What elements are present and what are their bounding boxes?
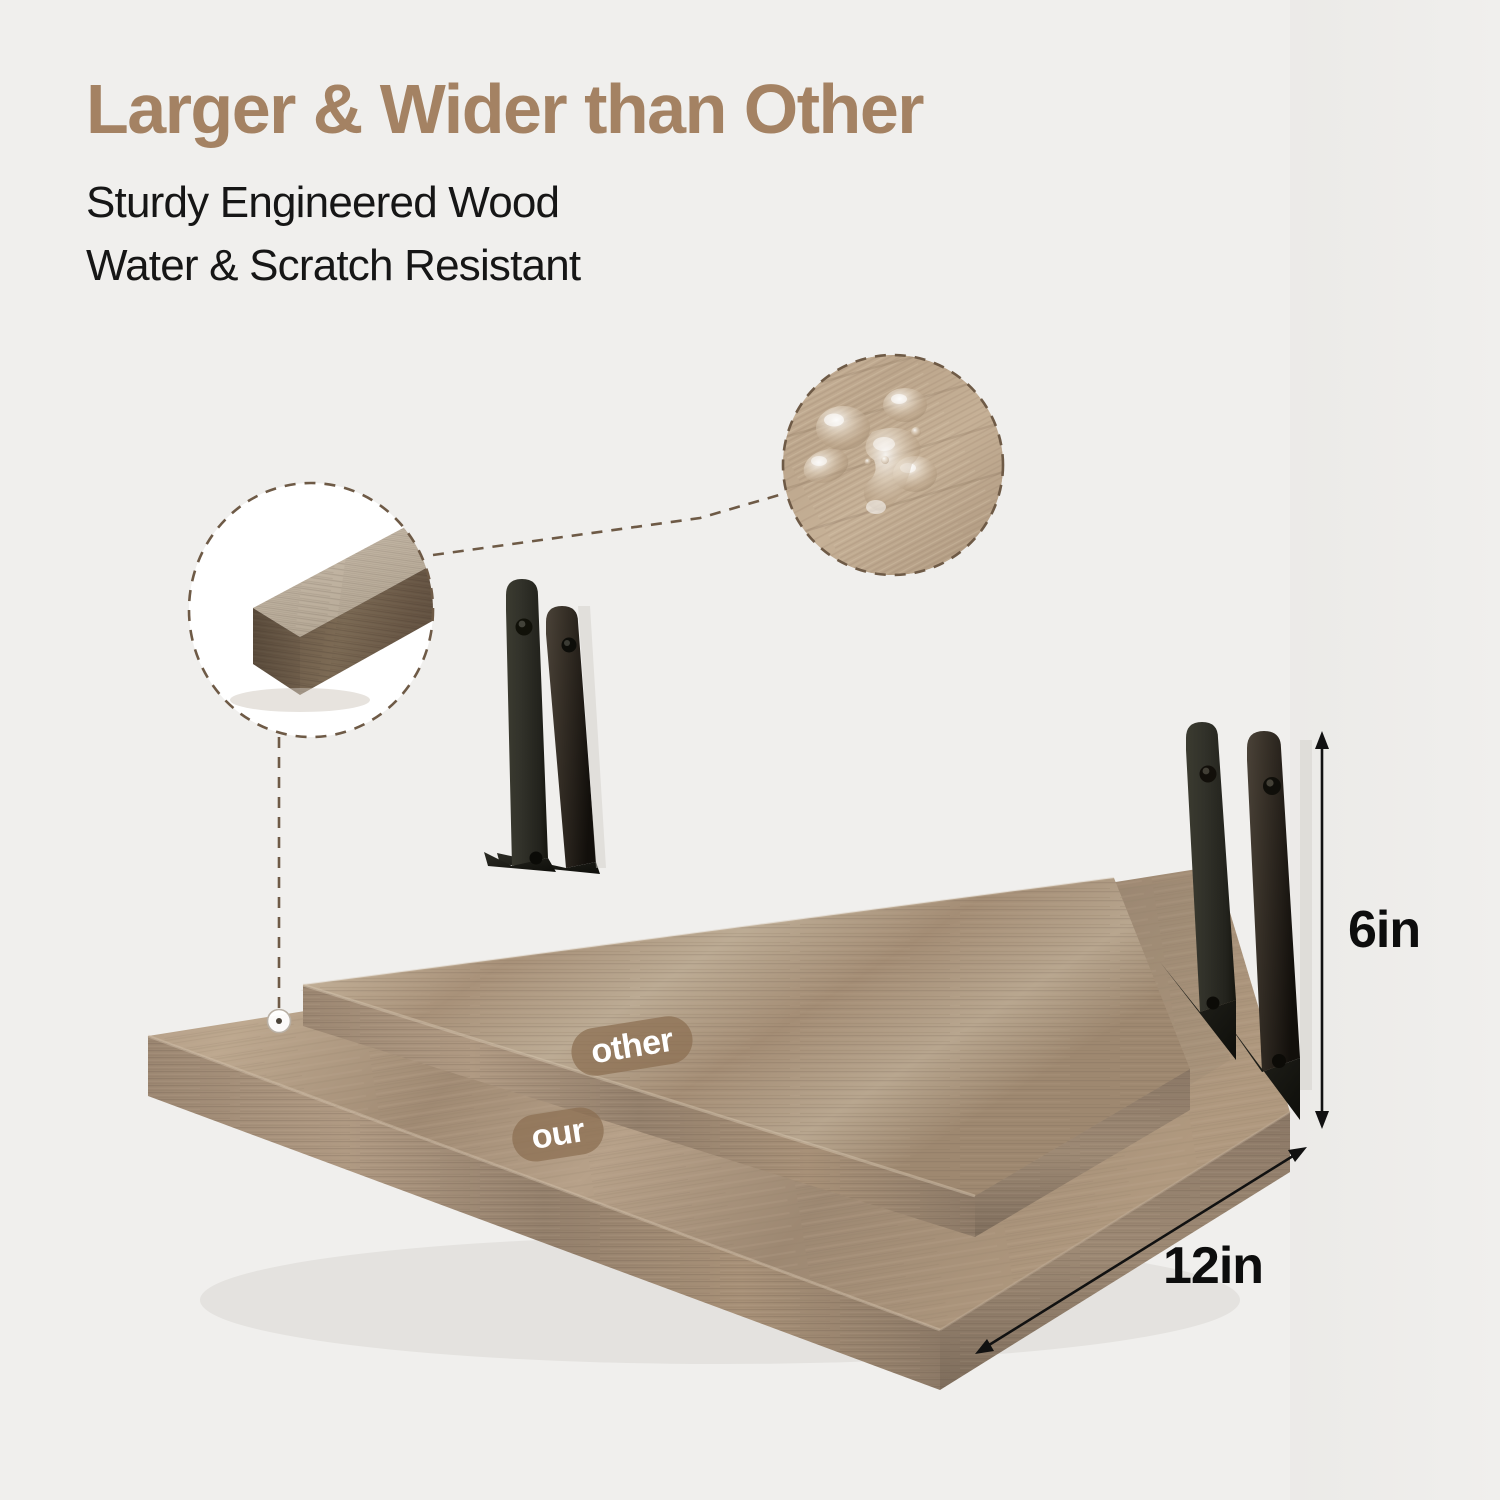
infographic-canvas: Larger & Wider than Other Sturdy Enginee… bbox=[0, 0, 1500, 1500]
dimension-label-height: 6in bbox=[1348, 900, 1420, 960]
dimension-label-depth: 12in bbox=[1163, 1236, 1263, 1296]
leader-marker-icon bbox=[268, 1010, 291, 1033]
subheading-1: Sturdy Engineered Wood bbox=[86, 180, 559, 226]
bracket-left-pair bbox=[484, 579, 606, 874]
callout-edge-detail bbox=[185, 480, 470, 742]
callout-water-resistance bbox=[775, 330, 1010, 575]
subheading-2: Water & Scratch Resistant bbox=[86, 243, 580, 289]
page-headline: Larger & Wider than Other bbox=[86, 74, 923, 145]
bracket-left-front bbox=[484, 579, 556, 872]
